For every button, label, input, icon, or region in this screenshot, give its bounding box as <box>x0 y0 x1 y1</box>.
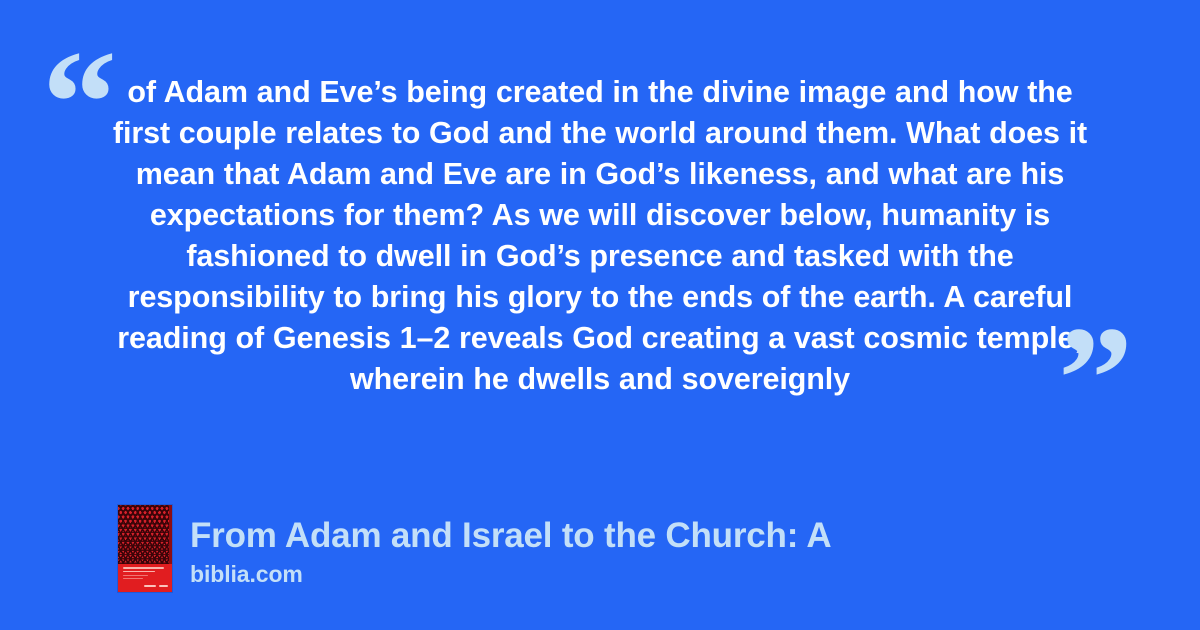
quote-text: of Adam and Eve’s being created in the d… <box>96 72 1104 400</box>
book-title: From Adam and Israel to the Church: A <box>190 514 831 557</box>
site-name[interactable]: biblia.com <box>190 559 831 589</box>
book-cover-author-lines <box>123 585 168 587</box>
book-cover-thumbnail[interactable] <box>118 505 172 592</box>
book-cover-title-lines <box>123 567 168 582</box>
closing-quote-icon: ” <box>1058 304 1133 454</box>
footer-texts: From Adam and Israel to the Church: A bi… <box>190 505 831 589</box>
quote-card: “ of Adam and Eve’s being created in the… <box>0 0 1200 630</box>
book-cover-spine <box>169 505 172 564</box>
footer: From Adam and Israel to the Church: A bi… <box>118 505 831 592</box>
book-cover-pattern <box>118 505 172 564</box>
